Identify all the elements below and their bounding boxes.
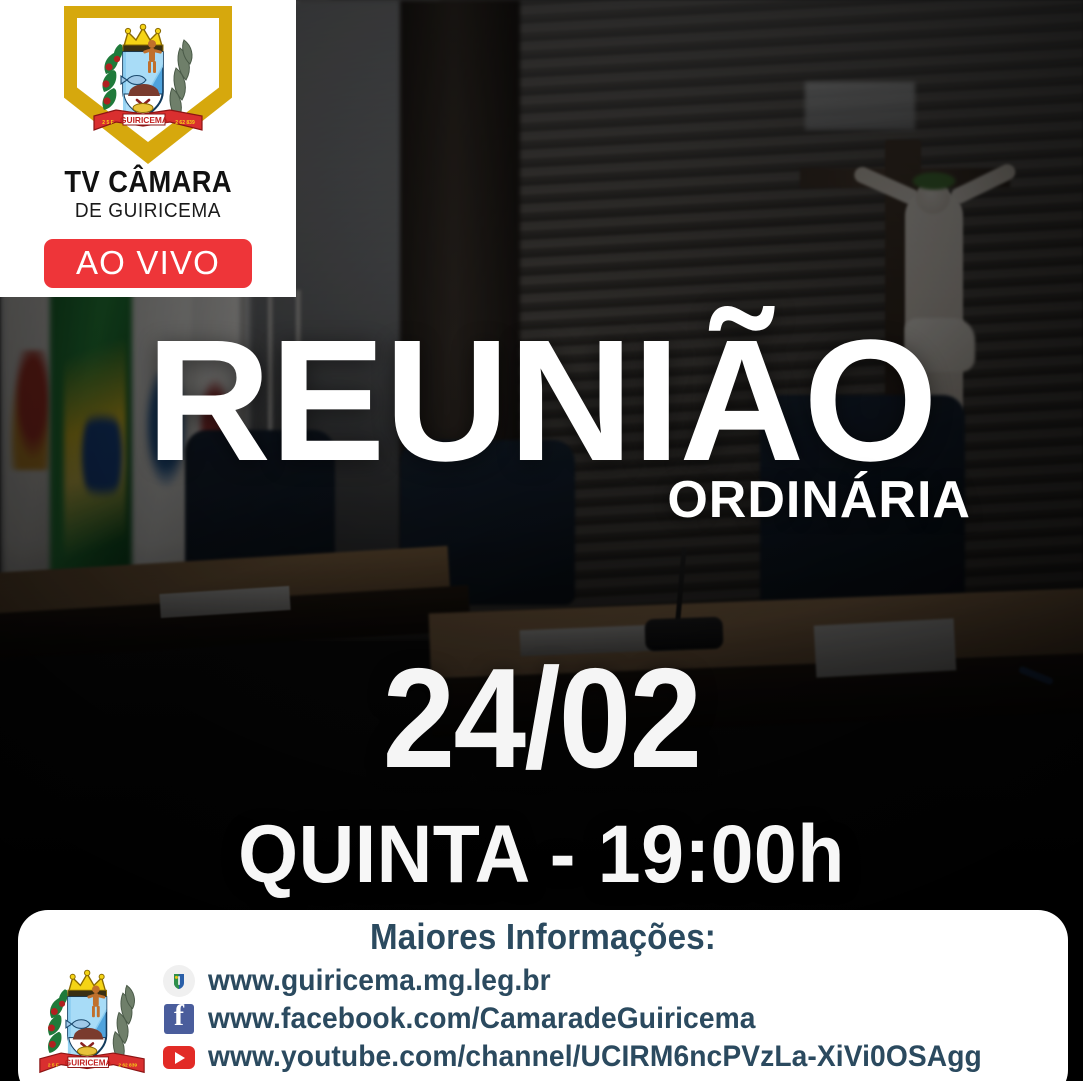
facebook-icon (162, 1002, 196, 1036)
live-badge: AO VIVO (44, 239, 252, 288)
info-card: Maiores Informações: (18, 910, 1068, 1081)
youtube-url: www.youtube.com/channel/UCIRM6ncPVzLa-Xi… (208, 1040, 982, 1074)
event-day-time: QUINTA - 19:00h (32, 814, 1050, 896)
tv-camara-logo-box: GUIRICEMA 2 5 F 2 62 839 TV CÂMARA DE GU… (0, 0, 296, 297)
website-url: www.guiricema.mg.leg.br (208, 964, 551, 998)
municipal-coat-of-arms-icon: GUIRICEMA 2 5 F 2 62 839 (36, 962, 148, 1081)
channel-subtitle: DE GUIRICEMA (75, 200, 221, 222)
facebook-url: www.facebook.com/CamaradeGuiricema (208, 1002, 756, 1036)
link-list: www.guiricema.mg.leg.br www.facebook.com… (162, 962, 1068, 1076)
event-poster: GUIRICEMA 2 5 F 2 62 839 TV CÂMARA DE GU… (0, 0, 1083, 1081)
crest-banner-right-label: 2 62 839 (175, 120, 195, 126)
info-card-title: Maiores Informações: (60, 916, 1026, 958)
link-row-facebook[interactable]: www.facebook.com/CamaradeGuiricema (162, 1000, 1068, 1038)
crest-small-banner-right: 2 62 839 (118, 1063, 137, 1069)
schedule-block: 24/02 QUINTA - 19:00h (0, 648, 1083, 896)
channel-name: TV CÂMARA (64, 166, 232, 197)
youtube-icon (162, 1040, 196, 1074)
shield-emblem: GUIRICEMA 2 5 F 2 62 839 (64, 6, 232, 164)
legbr-icon (162, 964, 196, 998)
event-date: 24/02 (43, 648, 1039, 790)
crest-small-banner-label: GUIRICEMA (65, 1059, 112, 1068)
crest-banner-label: GUIRICEMA (120, 115, 168, 125)
crest-banner-left-label: 2 5 F (102, 120, 113, 126)
link-row-youtube[interactable]: www.youtube.com/channel/UCIRM6ncPVzLa-Xi… (162, 1038, 1068, 1076)
link-row-website[interactable]: www.guiricema.mg.leg.br (162, 962, 1068, 1000)
coat-of-arms-icon: GUIRICEMA 2 5 F 2 62 839 (90, 22, 206, 144)
crest-small-banner-left: 2 5 F (48, 1063, 59, 1069)
